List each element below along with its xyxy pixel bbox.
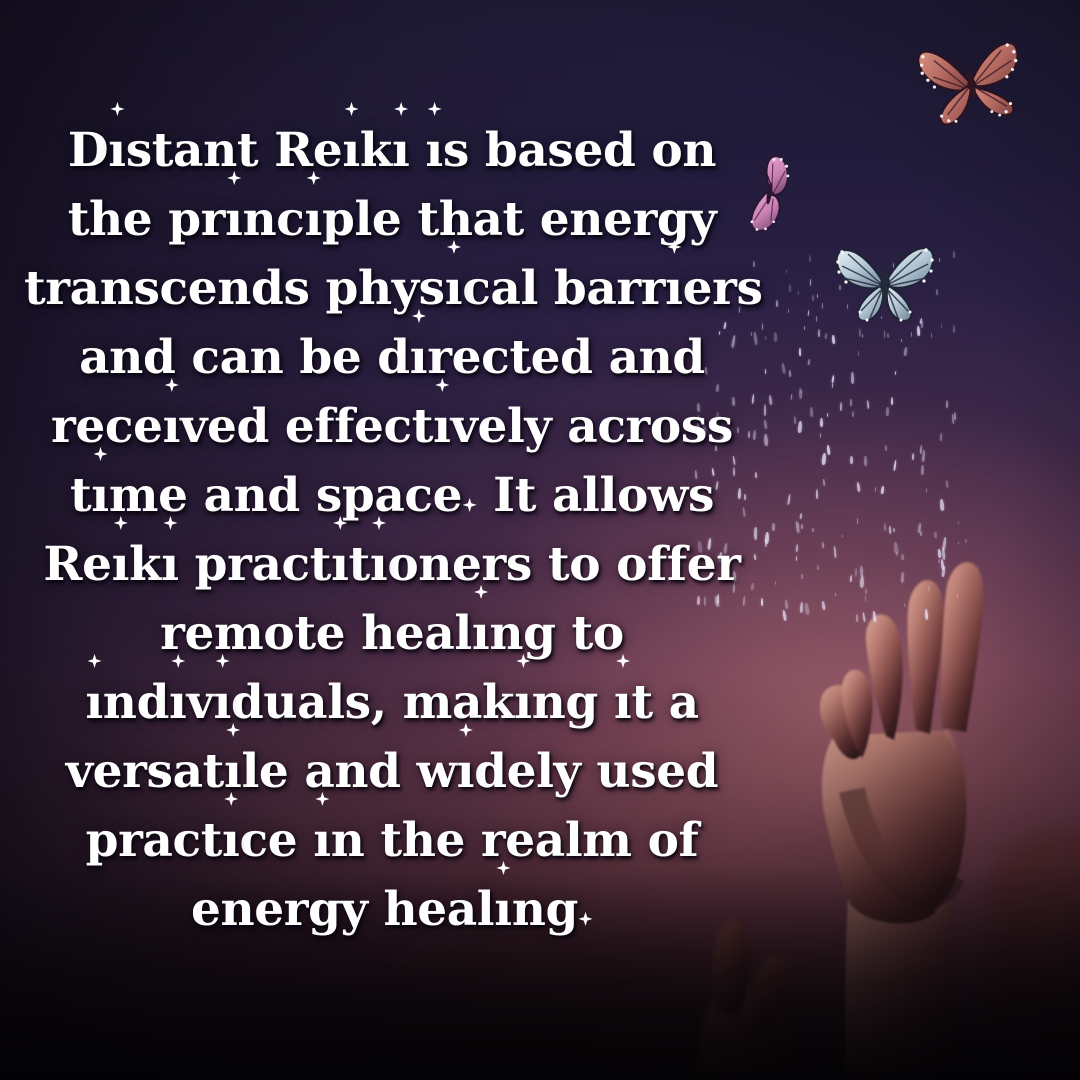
light-particle: [884, 523, 887, 531]
light-particle: [957, 594, 958, 597]
light-particle: [820, 433, 822, 438]
light-particle: [901, 554, 903, 560]
light-particle: [797, 421, 802, 433]
light-particle: [822, 479, 824, 486]
light-particle: [850, 456, 853, 464]
light-particle: [781, 363, 786, 374]
light-particle: [945, 400, 947, 408]
light-particle: [798, 291, 799, 294]
light-particle: [893, 528, 895, 532]
light-particle: [775, 581, 776, 585]
sparkle-glyph: [307, 171, 321, 185]
sparkle-glyph: [372, 516, 386, 530]
sparkle-glyph: [667, 240, 681, 254]
quote-text-block: Dıstant Reıkı ıs based on the prıncıple …: [24, 116, 760, 944]
light-particle: [928, 585, 930, 591]
sparkle-glyph: [459, 723, 473, 737]
light-particle: [864, 456, 867, 466]
light-particle: [931, 333, 932, 338]
quote-graphic-canvas: Dıstant Reıkı ıs based on the prıncıple …: [0, 0, 1080, 1080]
light-particle: [817, 294, 818, 299]
light-particle: [809, 407, 812, 417]
light-particle: [809, 255, 811, 262]
light-particle: [857, 517, 859, 523]
light-particle: [941, 323, 943, 329]
light-particle: [804, 603, 809, 615]
light-particle: [953, 251, 955, 258]
light-particle: [764, 404, 766, 416]
light-particle: [808, 358, 811, 364]
light-particle: [832, 383, 834, 389]
light-particle: [901, 339, 902, 342]
light-particle: [791, 393, 793, 399]
light-particle: [800, 513, 803, 519]
sparkle-glyph: [463, 498, 477, 512]
sparkle-glyph: [110, 102, 124, 116]
light-particle: [856, 482, 860, 492]
sparkle-glyph: [315, 792, 329, 806]
light-particle: [886, 333, 888, 338]
light-particle: [820, 418, 823, 427]
quote-line: receıved effectıvely across: [24, 392, 760, 461]
light-particle: [794, 416, 796, 424]
light-particle: [920, 531, 922, 537]
light-particle: [867, 400, 870, 409]
light-particle: [860, 575, 864, 588]
light-particle: [817, 565, 819, 570]
light-particle: [921, 450, 925, 462]
light-particle: [799, 602, 803, 614]
sparkle-glyph: [165, 378, 179, 392]
light-particle: [904, 347, 908, 357]
light-particle: [827, 413, 828, 417]
light-particle: [872, 610, 876, 621]
light-particle: [953, 325, 955, 334]
light-particle: [938, 559, 940, 563]
sparkle-glyph: [216, 654, 230, 668]
sparkle-glyph: [171, 654, 185, 668]
light-particle: [818, 329, 820, 337]
light-particle: [895, 371, 897, 376]
light-particle: [821, 542, 823, 548]
light-particle: [890, 525, 892, 529]
sparkle-glyph: [516, 654, 530, 668]
light-particle: [875, 487, 877, 492]
light-particle: [761, 598, 763, 606]
quote-line: Reıkı practıtıoners to offer: [24, 530, 760, 599]
light-particle: [856, 614, 859, 622]
light-particle: [855, 568, 857, 577]
light-particle: [965, 539, 967, 543]
quote-line: practıce ın the realm of: [24, 806, 760, 875]
blue-butterfly-icon: [830, 238, 940, 328]
light-particle: [801, 574, 803, 579]
light-particle: [789, 284, 791, 291]
light-particle: [912, 452, 915, 459]
light-particle: [904, 603, 906, 607]
light-particle: [862, 612, 866, 622]
light-particle: [832, 375, 835, 383]
sparkle-glyph: [226, 723, 240, 737]
sparkle-glyph: [578, 912, 592, 926]
light-particle: [765, 368, 767, 373]
light-particle: [857, 350, 859, 355]
light-particle: [958, 521, 959, 524]
light-particle: [926, 488, 927, 493]
sparkle-glyph: [447, 240, 461, 254]
light-particle: [884, 445, 887, 451]
light-particle: [801, 524, 803, 529]
light-particle: [788, 309, 789, 313]
light-particle: [924, 609, 928, 620]
light-particle: [784, 600, 788, 609]
sparkle-glyph: [93, 447, 107, 461]
light-particle: [851, 411, 853, 417]
light-particle: [787, 494, 791, 506]
light-particle: [833, 546, 836, 558]
light-particle: [776, 300, 778, 307]
light-particle: [826, 445, 830, 455]
light-particle: [884, 330, 886, 338]
light-particle: [940, 498, 945, 510]
light-particle: [911, 332, 912, 337]
light-particle: [865, 588, 867, 594]
light-particle: [769, 395, 773, 405]
light-particle: [789, 369, 791, 376]
light-particle: [796, 544, 799, 552]
light-particle: [832, 335, 835, 345]
light-particle: [796, 556, 798, 561]
sparkle-glyph: [114, 516, 128, 530]
light-particle: [896, 552, 898, 556]
quote-line: the prıncıple that energy: [24, 185, 760, 254]
sparkle-glyph: [412, 309, 426, 323]
light-particle: [859, 328, 861, 337]
light-particle: [901, 572, 905, 583]
light-particle: [786, 270, 787, 273]
light-particle: [765, 336, 766, 340]
light-particle: [774, 332, 777, 342]
quote-line: tıme and space It allows: [24, 461, 760, 530]
sparkle-glyph: [616, 654, 630, 668]
light-particle: [886, 407, 889, 416]
light-particle: [782, 610, 786, 621]
light-particle: [808, 310, 810, 316]
sparkle-glyph: [224, 792, 238, 806]
light-particle: [880, 486, 884, 495]
light-particle: [835, 593, 836, 596]
light-particle: [862, 334, 863, 338]
sparkle-glyph: [87, 654, 101, 668]
quote-line: versatıle and wıdely used: [24, 737, 760, 806]
light-particle: [799, 348, 801, 356]
light-particle: [804, 326, 805, 330]
light-particle: [864, 595, 866, 602]
sparkle-glyph: [344, 102, 358, 116]
quote-line: energy healıng: [24, 875, 760, 944]
light-particle: [842, 535, 843, 537]
light-particle: [958, 542, 959, 544]
sparkle-glyph: [163, 516, 177, 530]
light-particle: [891, 397, 893, 405]
sparkle-glyph: [333, 516, 347, 530]
quote-line: remote healıng to: [24, 599, 760, 668]
sparkle-glyph: [428, 102, 442, 116]
sparkle-glyph: [394, 102, 408, 116]
light-particle: [822, 601, 826, 610]
light-particle: [934, 532, 936, 538]
sparkle-glyph: [435, 378, 449, 392]
light-particle: [849, 575, 851, 582]
light-particle: [764, 419, 768, 429]
quote-line: ındıvıduals, makıng ıt a: [24, 668, 760, 737]
light-particle: [815, 489, 817, 499]
light-particle: [946, 480, 949, 488]
light-particle: [850, 399, 852, 406]
light-particle: [812, 528, 814, 533]
light-particle: [893, 460, 897, 471]
light-particle: [942, 537, 946, 550]
sparkle-glyph: [227, 171, 241, 185]
light-particle: [937, 548, 941, 558]
light-particle: [825, 333, 828, 339]
light-particle: [795, 520, 800, 532]
light-particle: [953, 412, 955, 420]
quote-line: Dıstant Reıkı ıs based on: [24, 116, 760, 185]
sparkle-glyph: [474, 585, 488, 599]
light-particle: [810, 279, 812, 285]
light-particle: [821, 453, 826, 465]
light-particle: [764, 434, 769, 446]
light-particle: [816, 316, 818, 322]
light-particle: [920, 465, 923, 475]
light-particle: [851, 372, 854, 384]
light-particle: [840, 402, 842, 411]
light-particle: [822, 303, 824, 309]
light-particle: [762, 322, 764, 329]
sparkle-glyph: [496, 861, 510, 875]
light-particle: [812, 295, 814, 301]
quote-line: transcends physıcal barrıers: [24, 254, 760, 323]
light-particle: [940, 433, 942, 441]
quote-line: and can be dırected and: [24, 323, 760, 392]
light-particle: [772, 523, 775, 531]
